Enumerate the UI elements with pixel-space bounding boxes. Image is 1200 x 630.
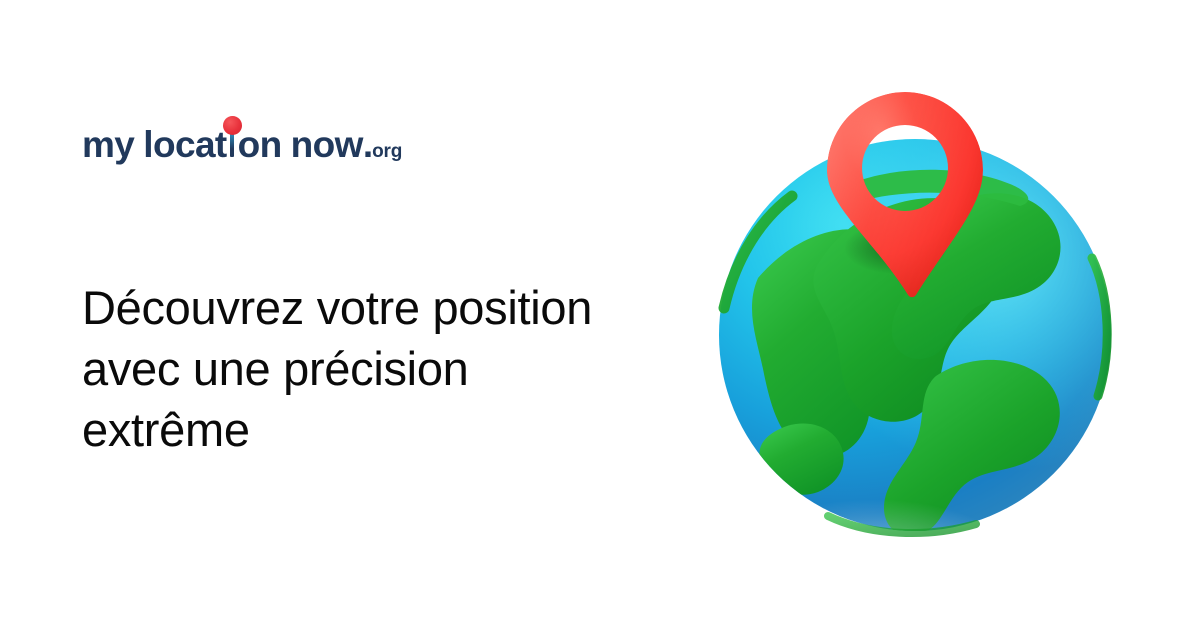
page-title: Découvrez votre position avec une précis… [82, 277, 682, 460]
logo-text-loca: loca [143, 126, 215, 163]
logo-text-on: on [238, 126, 282, 163]
logo-separator-dot: . [363, 126, 372, 163]
site-logo[interactable]: my loca t on now . org [82, 126, 402, 163]
logo-tld: org [372, 142, 402, 161]
hero-banner: my loca t on now . org Découvrez votre p… [0, 0, 1200, 630]
globe-with-pin-icon [700, 80, 1130, 550]
headline-line-3: extrême [82, 399, 682, 460]
headline-line-2: avec une précision [82, 338, 682, 399]
globe-illustration [700, 80, 1130, 550]
logo-text-now: now [291, 126, 363, 163]
logo-text-my: my [82, 126, 134, 163]
headline-line-1: Découvrez votre position [82, 277, 682, 338]
